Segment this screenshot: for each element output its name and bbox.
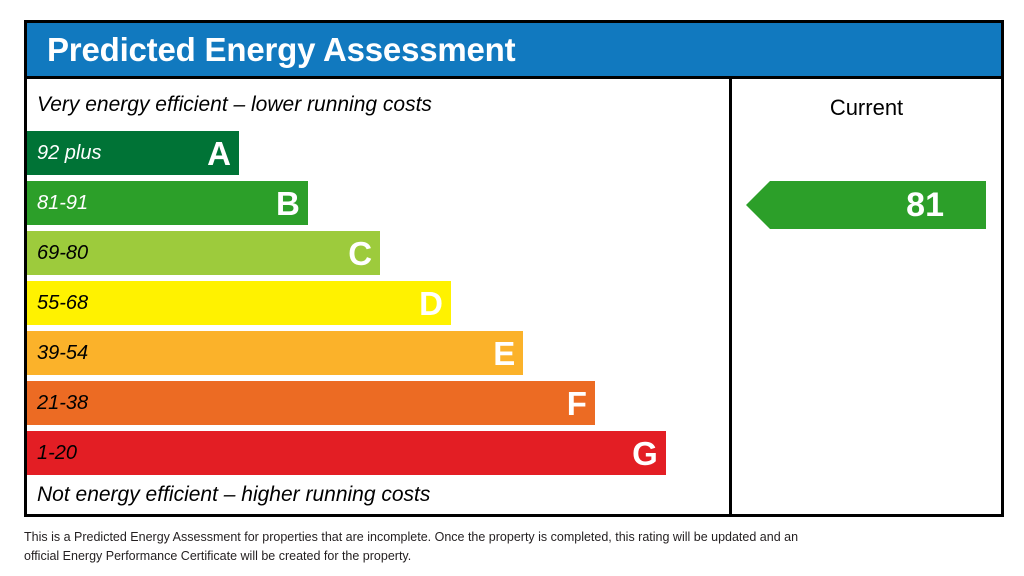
footnote: This is a Predicted Energy Assessment fo… [24,528,824,567]
band-range-label: 39-54 [37,343,88,363]
page-title: Predicted Energy Assessment [27,33,515,66]
band-letter: D [419,287,443,320]
energy-band-a: 92 plusA [27,131,239,175]
band-letter: C [348,237,372,270]
energy-band-f: 21-38F [27,381,595,425]
band-letter: B [276,187,300,220]
footnote-line-2: official Energy Performance Certificate … [24,549,411,563]
epc-chart-container: Predicted Energy Assessment Very energy … [24,20,1004,517]
band-letter: F [567,387,587,420]
band-range-label: 21-38 [37,393,88,413]
current-column-header: Current [732,95,1001,121]
epc-page: Predicted Energy Assessment Very energy … [0,0,1024,576]
caption-inefficient: Not energy efficient – higher running co… [37,483,430,507]
chart-body: Very energy efficient – lower running co… [27,79,1001,514]
energy-band-b: 81-91B [27,181,308,225]
band-range-label: 81-91 [37,193,88,213]
current-rating-panel: Current 81 [732,79,1001,514]
footnote-line-1: This is a Predicted Energy Assessment fo… [24,530,798,544]
energy-band-c: 69-80C [27,231,380,275]
band-range-label: 1-20 [37,443,77,463]
band-letter: A [207,137,231,170]
band-letter: G [632,437,658,470]
energy-bands-panel: Very energy efficient – lower running co… [27,79,729,514]
current-rating-arrow: 81 [746,181,986,229]
energy-band-e: 39-54E [27,331,523,375]
energy-band-d: 55-68D [27,281,451,325]
band-range-label: 92 plus [37,143,102,163]
band-letter: E [493,337,515,370]
energy-band-list: 92 plusA81-91B69-80C55-68D39-54E21-38F1-… [27,131,729,475]
caption-efficient: Very energy efficient – lower running co… [37,93,432,117]
energy-band-g: 1-20G [27,431,666,475]
band-range-label: 69-80 [37,243,88,263]
current-rating-value: 81 [906,188,944,222]
band-range-label: 55-68 [37,293,88,313]
chart-title-bar: Predicted Energy Assessment [27,23,1001,79]
